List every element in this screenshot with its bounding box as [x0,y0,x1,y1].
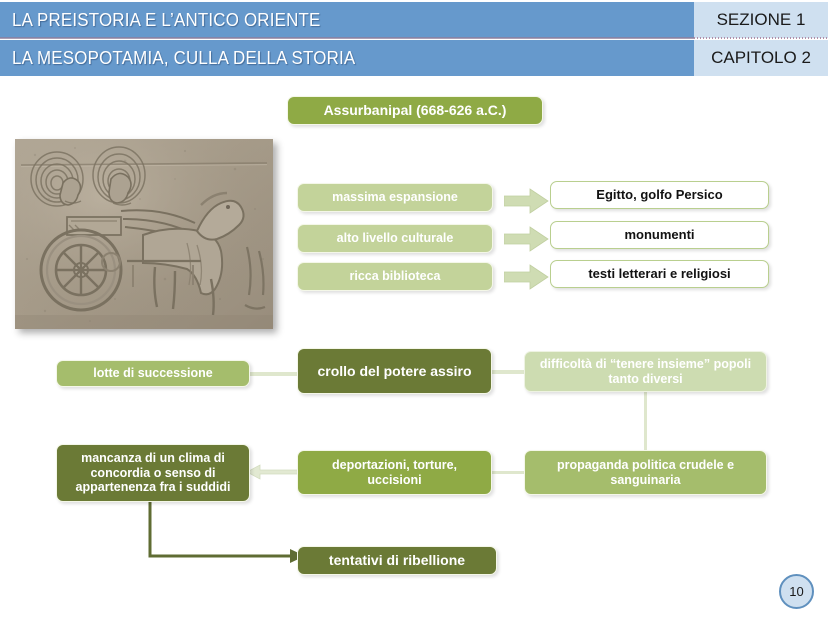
flow-box-propaganda-politica-crudele: propaganda politica crudele e sanguinari… [524,450,767,495]
flow-box-difficolta-tenere-insieme: difficoltà di “tenere insieme” popoli ta… [524,351,767,392]
assurbanipal-title-box: Assurbanipal (668-626 a.C.) [287,96,543,125]
flow-box-crollo-del-potere-assiro: crollo del potere assiro [297,348,492,394]
flow-box-lotte-di-successione: lotte di successione [56,360,250,387]
page-number-badge: 10 [779,574,814,609]
header-divider-line [0,37,694,39]
attribute-effect-testi-letterari-religiosi: testi letterari e religiosi [550,260,769,288]
header-divider-dots [694,37,828,39]
connector-lotte-to-crollo [250,372,297,376]
elbow-arrow-mancanza-to-tentativi-icon [145,498,310,566]
arrow-deportazioni-to-mancanza-icon [246,461,300,483]
assyrian-chariot-relief-image [15,139,273,329]
flow-box-tentativi-di-ribellione: tentativi di ribellione [297,546,497,575]
relief-illustration [15,139,273,329]
attribute-effect-egitto-golfo-persico: Egitto, golfo Persico [550,181,769,209]
header-chapter-bar: LA MESOPOTAMIA, CULLA DELLA STORIA [0,40,694,76]
right-block-arrow-icon [504,226,549,252]
header-row-chapter: LA MESOPOTAMIA, CULLA DELLA STORIA CAPIT… [0,40,828,76]
connector-propaganda-to-deportazioni [492,471,524,474]
attribute-effect-monumenti: monumenti [550,221,769,249]
header-section-bar: LA PREISTORIA E L’ANTICO ORIENTE [0,2,694,38]
connector-difficolta-to-propaganda [644,392,647,450]
header-section-title: LA PREISTORIA E L’ANTICO ORIENTE [12,10,320,31]
attribute-cause-alto-livello-culturale: alto livello culturale [297,224,493,253]
slide-header: LA PREISTORIA E L’ANTICO ORIENTE SEZIONE… [0,0,828,76]
attribute-cause-massima-espansione: massima espansione [297,183,493,212]
flow-box-deportazioni-torture-uccisioni: deportazioni, torture, uccisioni [297,450,492,495]
header-section-panel: SEZIONE 1 [694,2,828,38]
right-block-arrow-icon [504,188,549,214]
connector-crollo-to-difficolta [492,370,524,374]
attribute-cause-ricca-biblioteca: ricca biblioteca [297,262,493,291]
header-chapter-panel: CAPITOLO 2 [694,40,828,76]
flow-box-mancanza-clima-concordia: mancanza di un clima di concordia o sens… [56,444,250,502]
right-block-arrow-icon [504,264,549,290]
header-chapter-title: LA MESOPOTAMIA, CULLA DELLA STORIA [12,48,355,69]
header-row-section: LA PREISTORIA E L’ANTICO ORIENTE SEZIONE… [0,2,828,38]
page-number-label: 10 [789,584,803,599]
header-chapter-label: CAPITOLO 2 [711,48,811,68]
header-section-label: SEZIONE 1 [717,10,806,30]
